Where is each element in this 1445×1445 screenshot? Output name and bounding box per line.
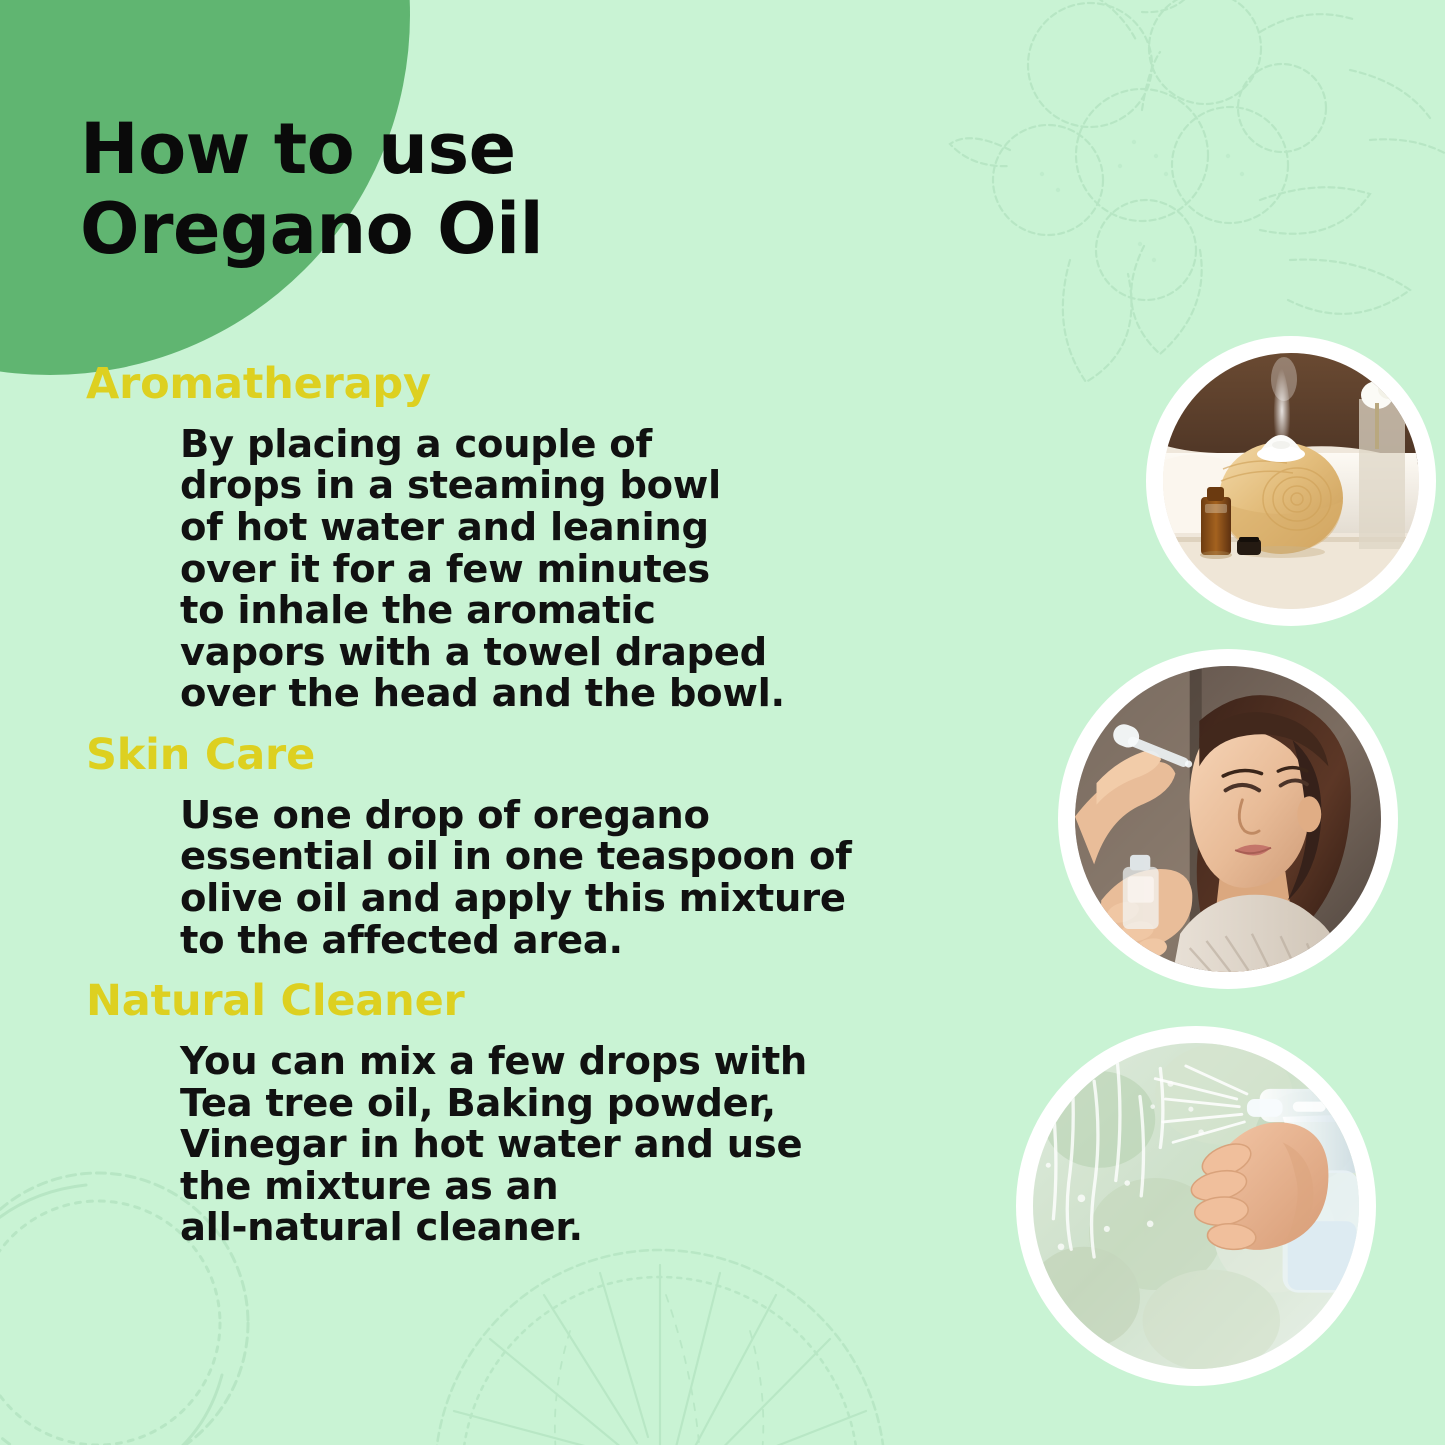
- body-line: over the head and the bowl.: [180, 673, 960, 715]
- body-line: to the affected area.: [180, 920, 960, 962]
- body-line: all-natural cleaner.: [180, 1207, 960, 1249]
- natural-cleaner-spray-image: [1033, 1043, 1359, 1369]
- body-line: the mixture as an: [180, 1166, 960, 1208]
- aromatherapy-diffuser-image: [1163, 353, 1419, 609]
- page-title-line-1: How to use: [80, 110, 700, 190]
- body-line: over it for a few minutes: [180, 549, 960, 591]
- section-body-natural-cleaner: You can mix a few drops with Tea tree oi…: [0, 1027, 960, 1261]
- aromatherapy-diffuser-photo: [1146, 336, 1436, 626]
- infographic-poster: How to use Oregano Oil Aromatherapy By p…: [0, 0, 1445, 1445]
- body-line: Vinegar in hot water and use: [180, 1124, 960, 1166]
- skin-care-serum-photo: [1058, 649, 1398, 989]
- section-heading-aromatherapy: Aromatherapy: [0, 360, 960, 410]
- body-line: Tea tree oil, Baking powder,: [180, 1083, 960, 1125]
- body-line: vapors with a towel draped: [180, 632, 960, 674]
- sections-list: Aromatherapy By placing a couple of drop…: [0, 360, 960, 1265]
- section-natural-cleaner: Natural Cleaner You can mix a few drops …: [0, 977, 960, 1261]
- body-line: olive oil and apply this mixture: [180, 878, 960, 920]
- section-skin-care: Skin Care Use one drop of oregano essent…: [0, 731, 960, 973]
- page-title: How to use Oregano Oil: [80, 110, 700, 270]
- body-line: of hot water and leaning: [180, 507, 960, 549]
- section-body-aromatherapy: By placing a couple of drops in a steami…: [0, 410, 960, 727]
- natural-cleaner-spray-photo: [1016, 1026, 1376, 1386]
- body-line: You can mix a few drops with: [180, 1041, 960, 1083]
- section-aromatherapy: Aromatherapy By placing a couple of drop…: [0, 360, 960, 727]
- body-line: essential oil in one teaspoon of: [180, 836, 960, 878]
- section-heading-skin-care: Skin Care: [0, 731, 960, 781]
- page-title-line-2: Oregano Oil: [80, 190, 700, 270]
- section-body-skin-care: Use one drop of oregano essential oil in…: [0, 781, 960, 973]
- body-line: to inhale the aromatic: [180, 590, 960, 632]
- citrus-slice-watermark: [420, 1235, 900, 1445]
- body-line: By placing a couple of: [180, 424, 960, 466]
- skin-care-serum-image: [1075, 666, 1381, 972]
- section-heading-natural-cleaner: Natural Cleaner: [0, 977, 960, 1027]
- body-line: drops in a steaming bowl: [180, 465, 960, 507]
- body-line: Use one drop of oregano: [180, 795, 960, 837]
